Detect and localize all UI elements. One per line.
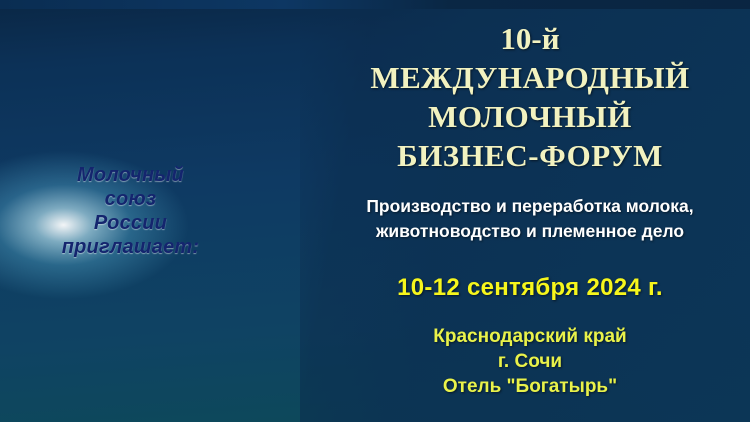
event-title-line-business-forum: БИЗНЕС-ФОРУМ <box>310 132 750 171</box>
venue-region: Краснодарский край <box>310 324 750 349</box>
event-title-line-international: МЕЖДУНАРОДНЫЙ <box>310 54 750 93</box>
event-subtitle-line-1: Производство и переработка молока, <box>310 194 750 219</box>
event-date: 10-12 сентября 2024 г. <box>310 274 750 302</box>
venue-city: г. Сочи <box>310 349 750 374</box>
organizer-invitation-block: Молочный союз России приглашает: <box>28 163 233 259</box>
event-subtitle-line-2: животноводство и племенное дело <box>310 219 750 244</box>
organizer-line-1: Молочный <box>28 163 233 187</box>
organizer-line-4: приглашает: <box>28 235 233 259</box>
organizer-line-3: России <box>28 211 233 235</box>
event-subtitle: Производство и переработка молока, живот… <box>310 194 750 244</box>
venue-hotel: Отель "Богатырь" <box>310 374 750 399</box>
forum-banner: Молочный союз России приглашает: 10-й МЕ… <box>0 0 750 422</box>
event-title-edition: 10-й <box>310 0 750 54</box>
event-info-column: 10-й МЕЖДУНАРОДНЫЙ МОЛОЧНЫЙ БИЗНЕС-ФОРУМ… <box>310 0 750 422</box>
event-title-line-dairy: МОЛОЧНЫЙ <box>310 93 750 132</box>
event-venue: Краснодарский край г. Сочи Отель "Богаты… <box>310 324 750 399</box>
organizer-line-2: союз <box>28 187 233 211</box>
